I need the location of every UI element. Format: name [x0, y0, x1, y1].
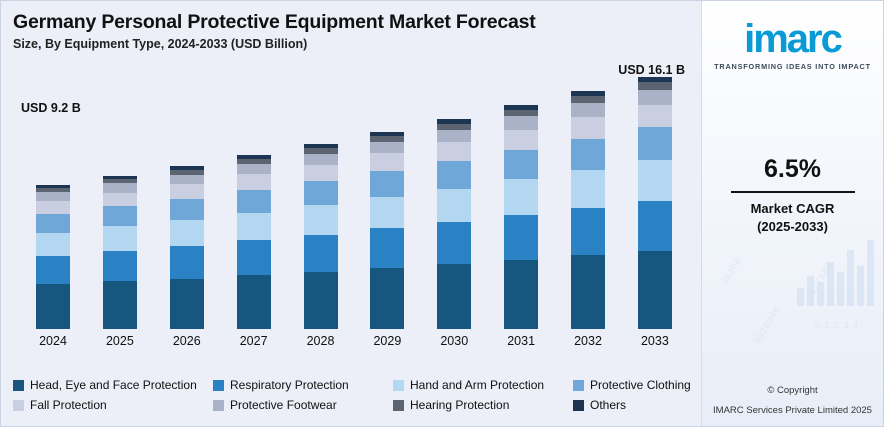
bar-segment [304, 205, 338, 235]
legend-item[interactable]: Protective Footwear [213, 398, 393, 412]
stacked-bar [304, 144, 338, 329]
legend-swatch-icon [13, 400, 24, 411]
bar-column [432, 119, 476, 329]
stacked-bar [571, 91, 605, 329]
bar-segment [36, 284, 70, 329]
bar-segment [504, 150, 538, 179]
brand-panel: 95308 9628048 3527688 0 1 2 3 4 imarc TR… [701, 1, 883, 426]
bar-segment [638, 82, 672, 90]
imarc-tagline: TRANSFORMING IDEAS INTO IMPACT [702, 62, 883, 71]
bar-segment [370, 228, 404, 267]
legend-item[interactable]: Head, Eye and Face Protection [13, 378, 213, 392]
legend-swatch-icon [573, 400, 584, 411]
bar-segment [504, 179, 538, 215]
x-axis-tick: 2030 [432, 334, 476, 348]
bar-segment [237, 213, 271, 241]
bar-segment [571, 208, 605, 256]
legend-swatch-icon [13, 380, 24, 391]
bar-segment [170, 184, 204, 199]
bar-segment [103, 183, 137, 192]
legend-row: Fall ProtectionProtective FootwearHearin… [13, 398, 693, 412]
x-axis-tick: 2027 [232, 334, 276, 348]
bar-segment [638, 127, 672, 160]
legend-label: Respiratory Protection [230, 378, 349, 392]
legend-row: Head, Eye and Face ProtectionRespiratory… [13, 378, 693, 392]
chart-subtitle: Size, By Equipment Type, 2024-2033 (USD … [13, 37, 691, 51]
bar-segment [103, 226, 137, 251]
cagr-period: (2025-2033) [702, 219, 883, 234]
legend-item[interactable]: Fall Protection [13, 398, 213, 412]
bar-segment [437, 161, 471, 188]
legend-swatch-icon [393, 380, 404, 391]
bar-segment [370, 268, 404, 329]
legend-label: Hand and Arm Protection [410, 378, 544, 392]
bar-segment [237, 240, 271, 275]
bar-segment [36, 233, 70, 256]
legend-label: Hearing Protection [410, 398, 509, 412]
bar-segment [370, 153, 404, 171]
bar-segment [504, 116, 538, 129]
bar-segment [504, 260, 538, 329]
bar-segment [370, 197, 404, 229]
bar-segment [437, 264, 471, 329]
copyright-text: © Copyright [702, 385, 883, 396]
legend-item[interactable]: Hand and Arm Protection [393, 378, 573, 392]
screenshot-root: Germany Personal Protective Equipment Ma… [0, 0, 884, 427]
legend-item[interactable]: Others [573, 398, 626, 412]
chart-legend: Head, Eye and Face ProtectionRespiratory… [13, 378, 693, 418]
stacked-bar [237, 155, 271, 329]
stacked-bar [36, 185, 70, 329]
bar-segment [571, 96, 605, 103]
legend-item[interactable]: Respiratory Protection [213, 378, 393, 392]
bar-segment [571, 117, 605, 138]
bar-segment [638, 160, 672, 200]
bar-group [13, 57, 691, 329]
bar-segment [571, 170, 605, 208]
cagr-block: 6.5% Market CAGR (2025-2033) [702, 155, 883, 234]
stacked-bar [370, 132, 404, 329]
legend-item[interactable]: Protective Clothing [573, 378, 691, 392]
bar-column [232, 155, 276, 329]
brand-block: imarc TRANSFORMING IDEAS INTO IMPACT [702, 1, 883, 71]
bar-segment [36, 256, 70, 285]
legend-swatch-icon [573, 380, 584, 391]
bar-segment [103, 281, 137, 329]
x-axis-tick: 2029 [365, 334, 409, 348]
bar-segment [504, 110, 538, 117]
bar-segment [237, 174, 271, 190]
bar-segment [304, 235, 338, 272]
bar-segment [571, 255, 605, 329]
bar-segment [638, 90, 672, 105]
bar-column [365, 132, 409, 329]
cagr-value: 6.5% [702, 155, 883, 184]
bar-segment [103, 193, 137, 207]
imarc-logo: imarc [702, 19, 883, 59]
bar-segment [571, 103, 605, 117]
bar-segment [304, 165, 338, 182]
bar-segment [170, 279, 204, 329]
bar-segment [638, 251, 672, 329]
x-axis-tick: 2028 [299, 334, 343, 348]
bar-segment [170, 246, 204, 279]
bar-segment [103, 206, 137, 226]
company-text: IMARC Services Private Limited 2025 [702, 405, 883, 416]
bar-segment [571, 139, 605, 170]
bar-segment [370, 142, 404, 154]
x-axis-tick: 2026 [165, 334, 209, 348]
x-axis-tick: 2031 [499, 334, 543, 348]
legend-label: Others [590, 398, 626, 412]
plot-area: USD 9.2 B USD 16.1 B [13, 57, 691, 329]
bar-segment [370, 171, 404, 197]
bar-column [31, 185, 75, 329]
bar-segment [170, 220, 204, 246]
legend-item[interactable]: Hearing Protection [393, 398, 573, 412]
bar-segment [437, 189, 471, 222]
stacked-bar [437, 119, 471, 329]
x-axis-labels: 2024202520262027202820292030203120322033 [13, 334, 691, 348]
chart-title: Germany Personal Protective Equipment Ma… [13, 11, 691, 33]
bar-column [499, 105, 543, 329]
legend-label: Head, Eye and Face Protection [30, 378, 197, 392]
bar-column [165, 166, 209, 329]
cagr-divider [731, 191, 855, 193]
legend-swatch-icon [213, 400, 224, 411]
bar-segment [437, 222, 471, 264]
bar-segment [504, 215, 538, 260]
bar-column [566, 91, 610, 329]
legend-label: Protective Footwear [230, 398, 337, 412]
bar-segment [638, 201, 672, 251]
bar-column [98, 176, 142, 329]
bar-segment [638, 105, 672, 128]
bar-segment [237, 164, 271, 174]
stacked-bar [504, 105, 538, 329]
stacked-bar [638, 77, 672, 329]
stacked-bar [103, 176, 137, 329]
decorative-text-4: 0 1 2 3 4 [815, 320, 859, 330]
bar-segment [304, 154, 338, 165]
stacked-bar [170, 166, 204, 329]
x-axis-tick: 2033 [633, 334, 677, 348]
bar-segment [304, 181, 338, 205]
bar-segment [170, 199, 204, 220]
chart-panel: Germany Personal Protective Equipment Ma… [1, 1, 701, 426]
bar-segment [36, 201, 70, 214]
bar-segment [36, 214, 70, 233]
bar-column [299, 144, 343, 329]
decorative-bars [797, 236, 877, 306]
bar-segment [504, 130, 538, 150]
x-axis-tick: 2025 [98, 334, 142, 348]
bar-segment [36, 192, 70, 201]
bar-segment [237, 275, 271, 329]
legend-swatch-icon [393, 400, 404, 411]
bar-segment [103, 251, 137, 282]
bar-segment [170, 175, 204, 185]
legend-swatch-icon [213, 380, 224, 391]
bar-segment [437, 142, 471, 161]
legend-label: Protective Clothing [590, 378, 691, 392]
bar-column [633, 77, 677, 329]
x-axis-tick: 2032 [566, 334, 610, 348]
bar-segment [237, 190, 271, 213]
bar-segment [304, 272, 338, 329]
x-axis-tick: 2024 [31, 334, 75, 348]
legend-label: Fall Protection [30, 398, 107, 412]
bar-segment [437, 130, 471, 143]
cagr-label: Market CAGR [702, 201, 883, 216]
